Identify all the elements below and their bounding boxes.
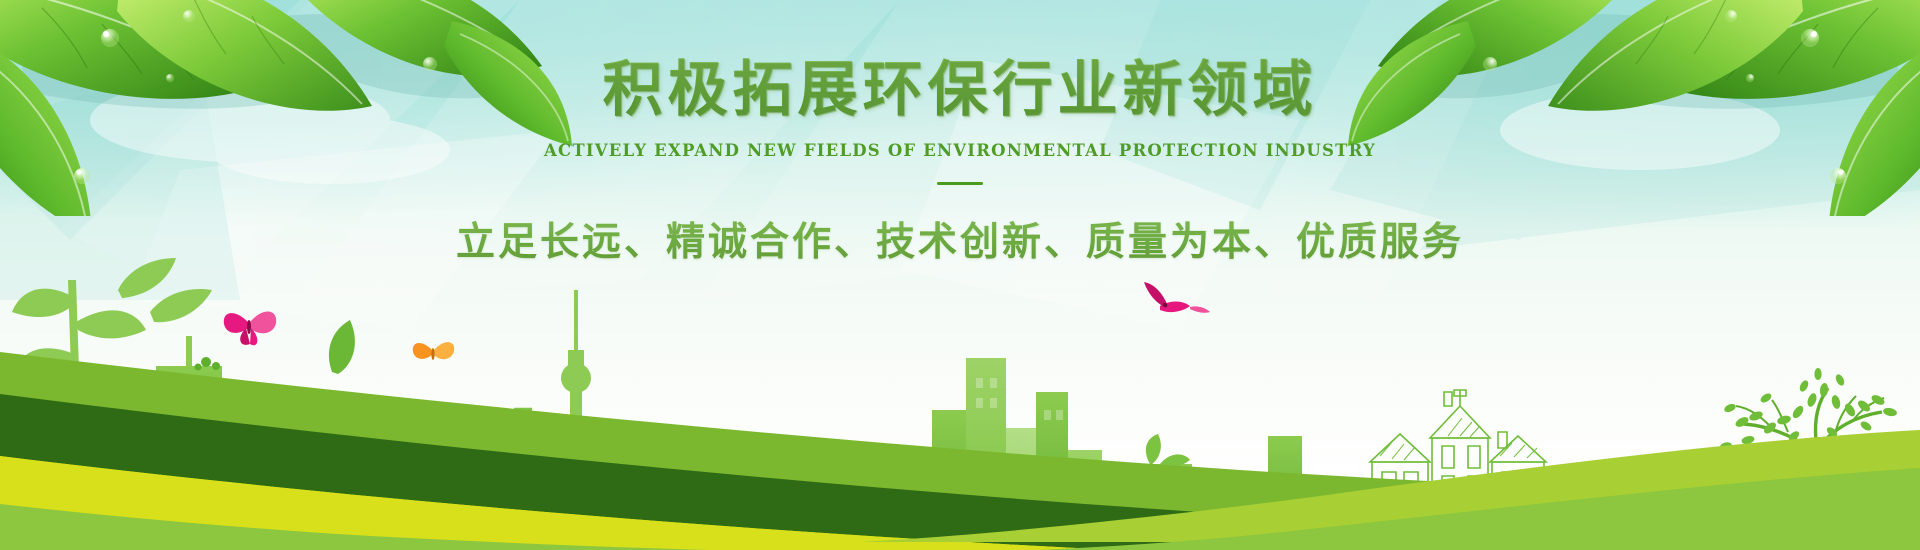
environmental-banner: 积极拓展环保行业新领域 ACTIVELY EXPAND NEW FIELDS O… [0,0,1920,550]
ribbon-bands [0,290,1920,550]
title-divider [937,182,983,185]
company-slogan: 立足长远、精诚合作、技术创新、质量为本、优质服务 [0,211,1920,267]
page-title: 积极拓展环保行业新领域 [0,58,1920,123]
headline-text-block: 积极拓展环保行业新领域 ACTIVELY EXPAND NEW FIELDS O… [0,58,1920,267]
subtitle-english: ACTIVELY EXPAND NEW FIELDS OF ENVIRONMEN… [0,141,1920,160]
